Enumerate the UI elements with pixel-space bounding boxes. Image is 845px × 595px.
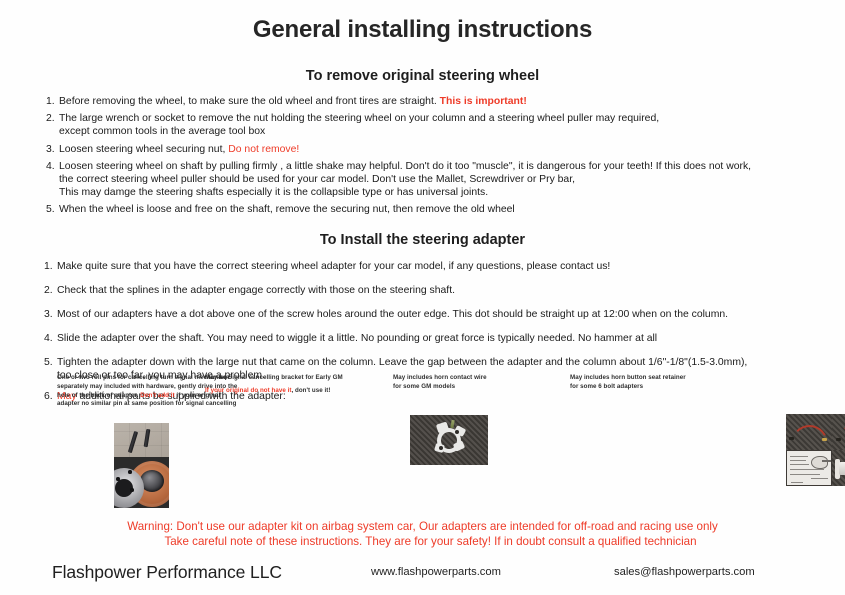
step-text: When the wheel is loose and free on the … bbox=[59, 204, 515, 215]
caption-line-1: One or two roll pins for cancelling turn… bbox=[57, 374, 229, 381]
step-text: Tighten the adapter down with the large … bbox=[57, 357, 747, 368]
section-heading-remove: To remove original steering wheel bbox=[0, 69, 845, 84]
step-number: 4. bbox=[44, 332, 53, 345]
bench-surface bbox=[114, 423, 169, 459]
caption-line-1: May be Signal cancelling bracket for Ear… bbox=[205, 374, 343, 381]
step-number: 1. bbox=[44, 260, 53, 273]
section-heading-install: To Install the steering adapter bbox=[0, 233, 845, 248]
part-caption: May includes horn button seat retainer f… bbox=[570, 374, 770, 392]
step-number: 3. bbox=[44, 308, 53, 321]
part-signal-bracket: May be Signal cancelling bracket for Ear… bbox=[205, 374, 390, 396]
caption-emphasis-b: , don't use it! bbox=[291, 387, 330, 394]
part-photo-signal-bracket bbox=[410, 415, 488, 465]
caption-line-1: May includes horn contact wire bbox=[393, 374, 487, 381]
step-number: 2. bbox=[44, 284, 53, 297]
part-photo-horn-contact-wire bbox=[786, 414, 845, 486]
instruction-sheet: General installing instructions To remov… bbox=[0, 0, 845, 595]
warning-line-2: Take careful note of these instructions.… bbox=[0, 535, 845, 550]
step-number: 5. bbox=[46, 204, 55, 217]
caption-line-2: for some GM models bbox=[393, 383, 455, 390]
parts-gallery: One or two roll pins for cancelling turn… bbox=[0, 374, 845, 514]
wire-terminal bbox=[822, 438, 827, 441]
part-photo-roll-pins bbox=[114, 423, 169, 508]
step-subline: except common tools in the average tool … bbox=[59, 126, 817, 139]
step-number: 1. bbox=[46, 96, 55, 109]
text-line bbox=[791, 482, 803, 483]
bracket-hole bbox=[455, 430, 459, 434]
dark-surface bbox=[114, 457, 169, 508]
step-text: Loosen steering wheel on shaft by pullin… bbox=[59, 161, 751, 172]
signal-cancelling-bracket bbox=[432, 422, 466, 456]
text-line bbox=[790, 464, 809, 465]
step-number: 3. bbox=[46, 144, 55, 157]
remove-step-2: 2.The large wrench or socket to remove t… bbox=[46, 113, 817, 138]
step-text: Make quite sure that you have the correc… bbox=[57, 261, 610, 272]
caption-line-1: May includes horn button seat retainer bbox=[570, 374, 686, 381]
install-step-2: 2.Check that the splines in the adapter … bbox=[44, 284, 817, 297]
photo-quadrant bbox=[786, 414, 832, 450]
photo-quadrant bbox=[832, 414, 845, 450]
remove-step-3: 3.Loosen steering wheel securing nut, Do… bbox=[46, 144, 817, 157]
website-url[interactable]: www.flashpowerparts.com bbox=[371, 566, 501, 578]
step-text: Loosen steering wheel securing nut, bbox=[59, 144, 228, 155]
diagram-shape bbox=[811, 456, 828, 469]
caption-line-3-emphasis: Don't add it bbox=[140, 392, 174, 399]
bracket-screw bbox=[450, 420, 454, 428]
warning-line-1: Warning: Don't use our adapter kit on ai… bbox=[127, 520, 718, 533]
step-emphasis: Do not remove! bbox=[228, 144, 299, 155]
page-footer: Flashpower Performance LLC www.flashpowe… bbox=[0, 562, 845, 590]
safety-warning: Warning: Don't use our adapter kit on ai… bbox=[0, 520, 845, 550]
page-title: General installing instructions bbox=[0, 18, 845, 42]
step-subline: the correct steering wheel puller should… bbox=[59, 174, 817, 187]
bolt-hole bbox=[128, 470, 132, 474]
step-text: Slide the adapter over the shaft. You ma… bbox=[57, 333, 657, 344]
caption-emphasis-a: If your original do not have it bbox=[205, 387, 291, 394]
horn-contact-body bbox=[839, 462, 845, 475]
part-horn-contact-wire: May includes horn contact wire for some … bbox=[393, 374, 568, 392]
step-number: 5. bbox=[44, 356, 53, 369]
step-text: Check that the splines in the adapter en… bbox=[57, 285, 455, 296]
wire-terminal bbox=[836, 438, 841, 441]
wire-terminal bbox=[789, 437, 794, 440]
install-step-1: 1.Make quite sure that you have the corr… bbox=[44, 260, 817, 273]
install-step-4: 4.Slide the adapter over the shaft. You … bbox=[44, 332, 817, 345]
step-number: 2. bbox=[46, 113, 55, 126]
diagram-stem bbox=[822, 460, 831, 462]
photo-quadrant bbox=[786, 450, 832, 486]
bolt-hole bbox=[130, 488, 134, 492]
text-line bbox=[790, 456, 808, 457]
part-caption: May includes horn contact wire for some … bbox=[393, 374, 568, 392]
contact-email[interactable]: sales@flashpowerparts.com bbox=[614, 566, 755, 578]
remove-step-4: 4.Loosen steering wheel on shaft by pull… bbox=[46, 161, 817, 199]
caption-line-4: adapter no similar pin at same position … bbox=[57, 400, 236, 407]
text-line bbox=[790, 469, 824, 470]
step-text: Most of our adapters have a dot above on… bbox=[57, 309, 728, 320]
roll-pin bbox=[144, 429, 150, 447]
part-horn-button-retainer: May includes horn button seat retainer f… bbox=[570, 374, 770, 392]
roll-pin bbox=[128, 431, 138, 453]
remove-step-5: 5.When the wheel is loose and free on th… bbox=[46, 204, 817, 217]
bolt-hole bbox=[116, 477, 120, 481]
step-text: The large wrench or socket to remove the… bbox=[59, 113, 659, 124]
step-text: Before removing the wheel, to make sure … bbox=[59, 96, 440, 107]
remove-step-1: 1.Before removing the wheel, to make sur… bbox=[46, 96, 817, 109]
bracket-hole bbox=[439, 446, 443, 450]
step-subline-2: This may damge the steering shafts espec… bbox=[59, 187, 817, 200]
photo-quadrant bbox=[832, 450, 845, 486]
instruction-sheet-photo bbox=[787, 451, 831, 485]
install-step-3: 3.Most of our adapters have a dot above … bbox=[44, 308, 817, 321]
step-number: 4. bbox=[46, 161, 55, 174]
text-line bbox=[790, 474, 820, 475]
company-name: Flashpower Performance LLC bbox=[52, 562, 282, 583]
caption-line-3a: hole of the back of adapter. bbox=[57, 392, 140, 399]
text-line bbox=[790, 460, 806, 461]
part-caption: May be Signal cancelling bracket for Ear… bbox=[205, 374, 390, 396]
caption-line-2: for some 6 bolt adapters bbox=[570, 383, 643, 390]
remove-steps-list: 1.Before removing the wheel, to make sur… bbox=[0, 96, 845, 218]
step-emphasis: This is important! bbox=[440, 96, 527, 107]
text-line bbox=[811, 478, 828, 479]
